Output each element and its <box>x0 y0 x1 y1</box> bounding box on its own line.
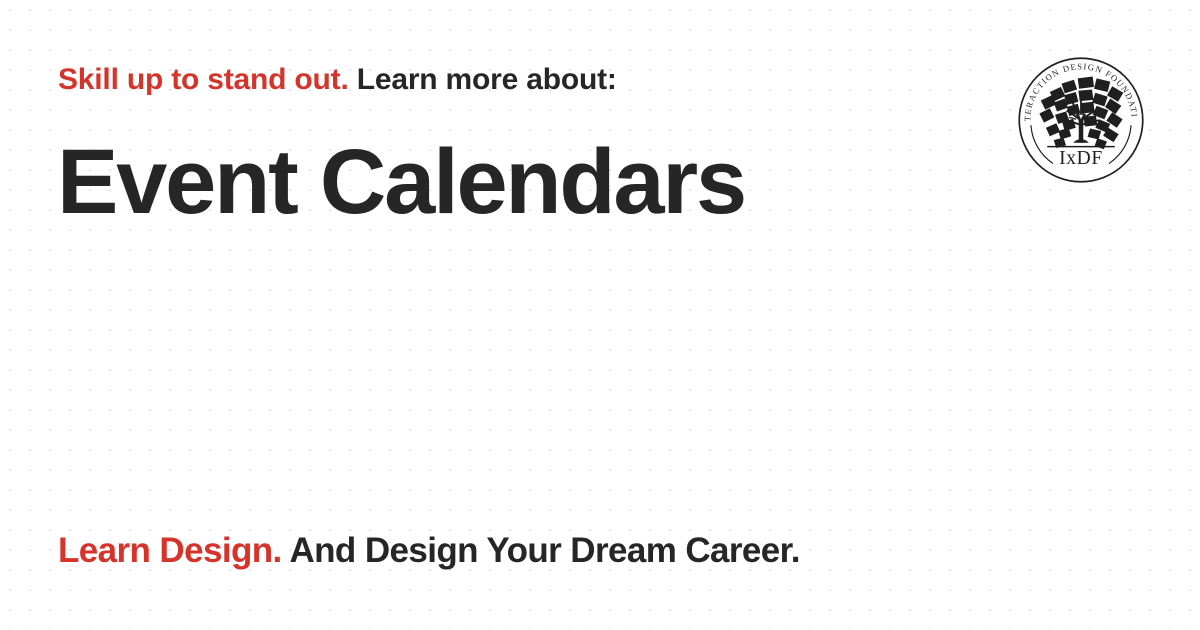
tagline-line: Learn Design. And Design Your Dream Care… <box>58 528 1138 574</box>
tagline-accent-text: Learn Design. <box>58 531 282 570</box>
tagline-rest-text: And Design Your Dream Career. <box>282 531 800 570</box>
ixdf-logo: INTERACTION DESIGN FOUNDATION <box>1016 55 1146 185</box>
eyebrow-rest-text: Learn more about: <box>349 63 617 96</box>
page-title: Event Calendars <box>57 126 1057 238</box>
eyebrow-accent-text: Skill up to stand out. <box>58 63 349 96</box>
og-card: Skill up to stand out. Learn more about:… <box>0 0 1200 630</box>
logo-wordmark: IxDF <box>1059 148 1103 169</box>
eyebrow-line: Skill up to stand out. Learn more about: <box>58 60 998 100</box>
ixdf-tree-seal-icon: INTERACTION DESIGN FOUNDATION <box>1016 55 1146 185</box>
